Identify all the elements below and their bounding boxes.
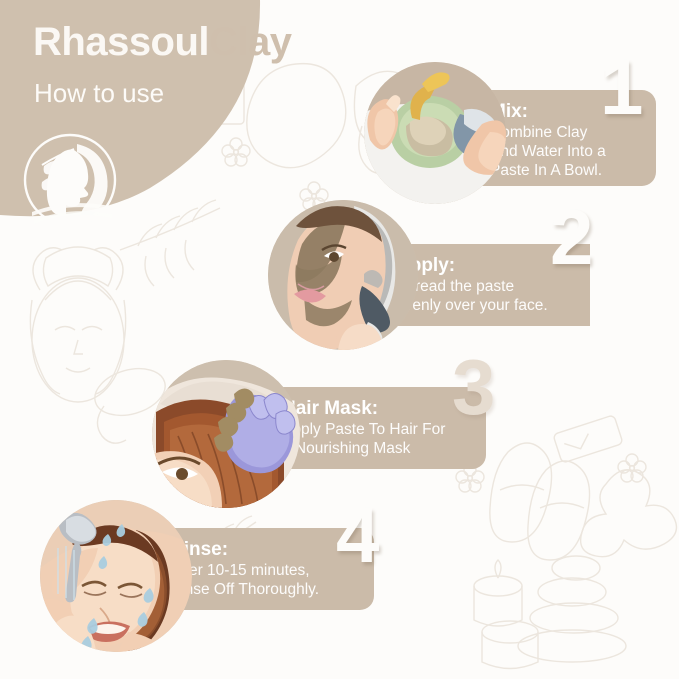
step-3-number: 3 (452, 348, 495, 426)
step-1-number: 1 (600, 48, 643, 126)
step-4-image (40, 500, 192, 652)
step-4-heading: Rinse: (170, 538, 360, 562)
page-subtitle: How to use (34, 78, 164, 109)
candles-lineart (474, 560, 538, 669)
step-4-number: 4 (336, 496, 379, 574)
woman-profile-botanical-logo (22, 132, 118, 228)
spa-face-massage-lineart (30, 247, 125, 402)
woman-applying-clay-mask-with-brush (268, 200, 418, 350)
gloved-hand-applying-paste-to-hair (152, 360, 300, 508)
zen-stones-lineart (518, 556, 626, 662)
infographic-poster: RhassoulClay How to use Mix: Com (0, 0, 679, 679)
step-3-heading: Hair Mask: (282, 397, 472, 421)
step-2-number: 2 (550, 198, 593, 276)
step-2-body: Spread the paste evenly over your face. (396, 278, 576, 316)
step-4-body: After 10-15 minutes, Rinse Off Thoroughl… (170, 562, 360, 600)
hands-mixing-clay-in-green-bowl (364, 62, 506, 204)
ginger-root-lineart (581, 470, 677, 557)
step-3-body: Apply Paste To Hair For a Nourishing Mas… (282, 421, 472, 459)
page-title: RhassoulClay (33, 20, 292, 64)
step-1-body: Combine Clay And Water Into a Paste In A… (490, 124, 642, 181)
title-part-2: Clay (209, 20, 292, 64)
woman-rinsing-face-in-shower (40, 500, 192, 652)
slippers-lineart (490, 443, 590, 560)
step-3-image (152, 360, 300, 508)
title-part-1: Rhassoul (33, 20, 209, 64)
step-1-image (364, 62, 506, 204)
step-2-heading: Apply: (396, 254, 576, 278)
step-2-image (268, 200, 418, 350)
